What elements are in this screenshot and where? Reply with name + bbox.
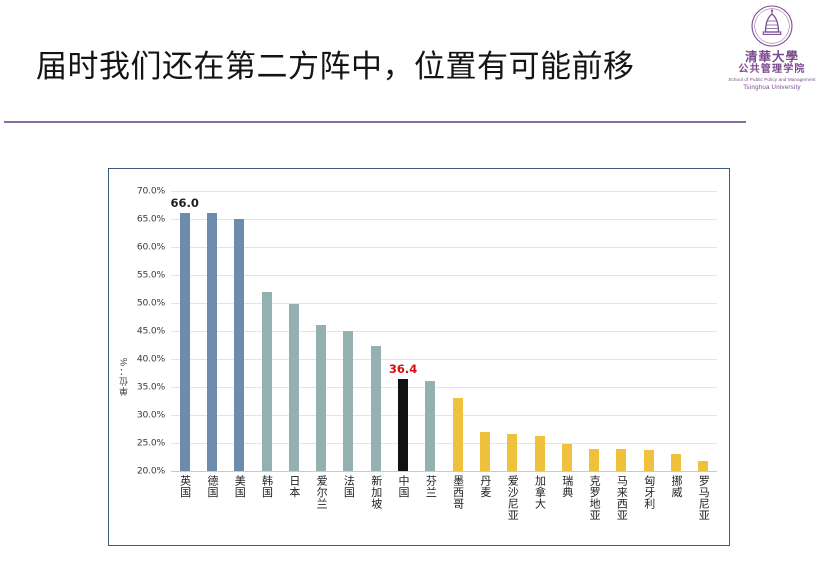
x-axis-label: 日本 <box>288 475 300 521</box>
x-axis-label: 加拿大 <box>534 475 546 521</box>
x-axis-label: 法国 <box>342 475 354 521</box>
bar-slot <box>198 191 225 471</box>
x-axis-label-slot: 英国 <box>171 475 198 521</box>
bar-slot <box>580 191 607 471</box>
x-axis-label: 韩国 <box>261 475 273 521</box>
plot-area: 70.0%65.0%60.0%55.0%50.0%45.0%40.0%35.0%… <box>171 191 717 471</box>
x-axis-label: 新加坡 <box>370 475 382 521</box>
x-axis-label: 德国 <box>206 475 218 521</box>
bar-slot <box>608 191 635 471</box>
y-axis-title: 单位：% <box>117 357 131 396</box>
x-axis-label-slot: 爱尔兰 <box>307 475 334 521</box>
bar <box>589 449 599 471</box>
x-axis-labels: 英国德国美国韩国日本爱尔兰法国新加坡中国芬兰墨西哥丹麦爱沙尼亚加拿大瑞典克罗地亚… <box>171 475 717 521</box>
bar-slot <box>526 191 553 471</box>
x-axis-label: 中国 <box>397 475 409 521</box>
bar <box>343 331 353 471</box>
bar-slot <box>499 191 526 471</box>
bar <box>207 213 217 471</box>
logo-school-name: 公共管理学院 <box>738 64 805 76</box>
y-axis-tick: 60.0% <box>137 242 165 253</box>
bar-slot <box>335 191 362 471</box>
y-axis-tick: 50.0% <box>137 298 165 309</box>
x-axis-label-slot: 罗马尼亚 <box>690 475 717 521</box>
bar-value-label: 36.4 <box>389 362 417 376</box>
x-axis-label: 美国 <box>233 475 245 521</box>
x-axis-label-slot: 日本 <box>280 475 307 521</box>
y-axis-tick: 25.0% <box>137 438 165 449</box>
x-axis-label: 克罗地亚 <box>588 475 600 521</box>
y-axis-tick: 30.0% <box>137 410 165 421</box>
bar <box>234 219 244 471</box>
bar-slot <box>253 191 280 471</box>
x-axis-label-slot: 马来西亚 <box>608 475 635 521</box>
bar: 36.4 <box>398 379 408 471</box>
gridline: 20.0% <box>171 471 717 472</box>
bar-slot <box>226 191 253 471</box>
x-axis-label: 丹麦 <box>479 475 491 521</box>
x-axis-label-slot: 挪威 <box>662 475 689 521</box>
bar <box>425 381 435 471</box>
x-axis-label-slot: 芬兰 <box>417 475 444 521</box>
x-axis-label-slot: 新加坡 <box>362 475 389 521</box>
bar <box>262 292 272 471</box>
y-axis-tick: 45.0% <box>137 326 165 337</box>
x-axis-label: 英国 <box>179 475 191 521</box>
y-axis-tick: 20.0% <box>137 466 165 477</box>
bar-slot <box>280 191 307 471</box>
bar <box>289 304 299 471</box>
bar <box>453 398 463 471</box>
bar <box>671 454 681 471</box>
x-axis-label-slot: 德国 <box>198 475 225 521</box>
bar-slot <box>444 191 471 471</box>
bar <box>562 444 572 471</box>
bar: 66.0 <box>180 213 190 471</box>
logo-english-school: School of Public Policy and Management <box>728 76 815 83</box>
bar-slot <box>662 191 689 471</box>
bar-value-label: 66.0 <box>170 196 198 210</box>
x-axis-label-slot: 匈牙利 <box>635 475 662 521</box>
page-title: 届时我们还在第二方阵中，位置有可能前移 <box>36 46 635 88</box>
bar <box>316 325 326 471</box>
bar-slot <box>690 191 717 471</box>
x-axis-label-slot: 法国 <box>335 475 362 521</box>
x-axis-label-slot: 克罗地亚 <box>580 475 607 521</box>
bar-series: 66.036.4 <box>171 191 717 471</box>
logo-chinese-name: 清華大學 <box>745 50 799 64</box>
bar-slot <box>635 191 662 471</box>
x-axis-label-slot: 美国 <box>226 475 253 521</box>
bar-slot <box>362 191 389 471</box>
y-axis-tick: 70.0% <box>137 186 165 197</box>
x-axis-label: 爱沙尼亚 <box>506 475 518 521</box>
tsinghua-emblem-icon <box>750 4 794 48</box>
x-axis-label-slot: 瑞典 <box>553 475 580 521</box>
bar-slot: 36.4 <box>389 191 416 471</box>
x-axis-label: 挪威 <box>670 475 682 521</box>
bar-slot <box>417 191 444 471</box>
bar <box>480 432 490 471</box>
y-axis-tick: 35.0% <box>137 382 165 393</box>
x-axis-label-slot: 中国 <box>389 475 416 521</box>
bar-slot <box>471 191 498 471</box>
x-axis-label: 芬兰 <box>424 475 436 521</box>
y-axis-tick: 55.0% <box>137 270 165 281</box>
bar <box>644 450 654 471</box>
tsinghua-logo: 清華大學 公共管理学院 School of Public Policy and … <box>726 4 818 108</box>
bar <box>698 461 708 471</box>
x-axis-label-slot: 丹麦 <box>471 475 498 521</box>
x-axis-label: 罗马尼亚 <box>697 475 709 521</box>
x-axis-label: 瑞典 <box>561 475 573 521</box>
bar-slot: 66.0 <box>171 191 198 471</box>
x-axis-label-slot: 韩国 <box>253 475 280 521</box>
x-axis-label-slot: 墨西哥 <box>444 475 471 521</box>
chart-panel: 单位：% 70.0%65.0%60.0%55.0%50.0%45.0%40.0%… <box>108 168 730 546</box>
x-axis-label-slot: 爱沙尼亚 <box>499 475 526 521</box>
bar <box>535 436 545 471</box>
x-axis-label-slot: 加拿大 <box>526 475 553 521</box>
bar-slot <box>307 191 334 471</box>
bar <box>371 346 381 471</box>
bar <box>507 434 517 471</box>
bar-slot <box>553 191 580 471</box>
x-axis-label: 马来西亚 <box>615 475 627 521</box>
logo-english-university: Tsinghua University <box>743 83 800 92</box>
y-axis-tick: 40.0% <box>137 354 165 365</box>
x-axis-label: 墨西哥 <box>452 475 464 521</box>
x-axis-label: 爱尔兰 <box>315 475 327 521</box>
bar <box>616 449 626 471</box>
title-divider <box>4 121 746 123</box>
x-axis-label: 匈牙利 <box>643 475 655 521</box>
y-axis-tick: 65.0% <box>137 214 165 225</box>
